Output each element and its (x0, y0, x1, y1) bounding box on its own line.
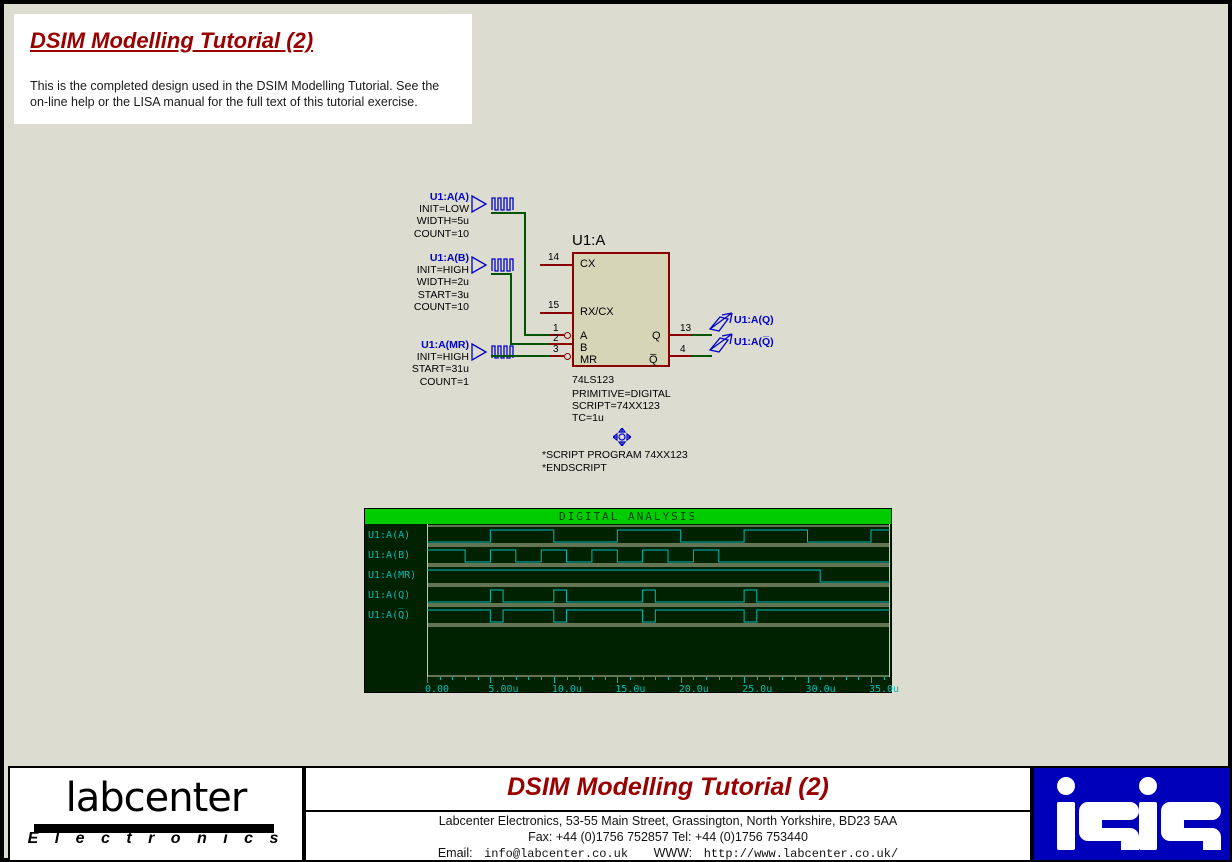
gen-mr-prop-2: COUNT=1 (344, 376, 469, 388)
gen-b-prop-1: WIDTH=2u (344, 276, 469, 288)
gen-a-prop-2: COUNT=10 (344, 228, 469, 240)
generator-props-mr: INIT=HIGH START=31u COUNT=1 (344, 351, 469, 388)
axis-minor-tick (579, 677, 580, 680)
labcenter-wordmark: labcenter (10, 774, 302, 822)
pinstub-14 (540, 264, 572, 266)
gen-mr-prop-0: INIT=HIGH (344, 351, 469, 363)
axis-tick-label: 15.0u (615, 684, 645, 695)
inversion-bubble-pin1 (564, 332, 571, 339)
axis-minor-tick (630, 677, 631, 680)
pin-number-4: 4 (680, 344, 686, 355)
pin-number-15: 15 (548, 300, 559, 311)
axis-minor-tick (884, 677, 885, 680)
inversion-bubble-pin3 (564, 353, 571, 360)
www-label: WWW: (654, 846, 693, 860)
labcenter-sub-wordmark: E l e c t r o n i c s (10, 830, 302, 848)
axis-minor-tick (795, 677, 796, 680)
axis-minor-tick (592, 677, 593, 680)
email-address[interactable]: info@labcenter.co.uk (484, 847, 628, 861)
axis-minor-tick (757, 677, 758, 680)
axis-minor-tick (605, 677, 606, 680)
axis-tick-label: 0.00 (425, 684, 449, 695)
output-terminal-arrow-qbar[interactable] (708, 330, 736, 354)
wire-a-h1 (491, 212, 526, 214)
axis-minor-tick (668, 677, 669, 680)
trace-label-1: U1:A(B) (368, 550, 410, 561)
pinstub-4 (670, 355, 692, 357)
axis-minor-tick (516, 677, 517, 680)
axis-major-tick (554, 677, 555, 683)
axis-minor-tick (643, 677, 644, 680)
axis-tick-label: 10.0u (552, 684, 582, 695)
isis-logo-icon (1044, 774, 1224, 858)
title-block-contact-row: Email: info@labcenter.co.uk WWW: http://… (306, 846, 1030, 861)
pin-label-rxcx: RX/CX (580, 306, 614, 318)
email-label: Email: (438, 846, 473, 860)
axis-major-tick (427, 677, 428, 683)
axis-minor-tick (503, 677, 504, 680)
generator-props-a: INIT=LOW WIDTH=5u COUNT=10 (344, 203, 469, 240)
pinstub-3 (550, 355, 564, 357)
graph-plot-area[interactable] (427, 524, 890, 677)
generator-props-b: INIT=HIGH WIDTH=2u START=3u COUNT=10 (344, 264, 469, 314)
schematic-page: DSIM Modelling Tutorial (2) This is the … (0, 0, 1232, 862)
axis-tick-label: 35.0u (869, 684, 899, 695)
axis-tick-label: 30.0u (806, 684, 836, 695)
gen-a-prop-0: INIT=LOW (344, 203, 469, 215)
gen-a-prop-1: WIDTH=5u (344, 215, 469, 227)
pin-label-b: B (580, 342, 587, 354)
title-block-divider (306, 810, 1030, 812)
axis-major-tick (681, 677, 682, 683)
axis-minor-tick (706, 677, 707, 680)
generator-label-b: U1:A(B) (344, 252, 469, 264)
title-block-main-cell: DSIM Modelling Tutorial (2) Labcenter El… (304, 766, 1032, 862)
wire-mr-h (491, 355, 550, 357)
axis-major-tick (808, 677, 809, 683)
axis-minor-tick (820, 677, 821, 680)
chip-prop-tc: TC=1u (572, 412, 604, 425)
axis-tick-label: 25.0u (742, 684, 772, 695)
pinstub-13 (670, 334, 692, 336)
gen-b-prop-2: START=3u (344, 289, 469, 301)
axis-minor-tick (858, 677, 859, 680)
axis-tick-label: 20.0u (679, 684, 709, 695)
origin-marker-icon (613, 428, 631, 446)
isis-logo-cell (1032, 766, 1232, 862)
wire-a-v (524, 212, 526, 336)
pin-number-2: 2 (553, 333, 559, 344)
pin-label-cx: CX (580, 258, 595, 270)
pin-number-3: 3 (553, 344, 559, 355)
terminal-label-qbar: U1:A(Q̅) (734, 336, 774, 348)
pin-label-mr: MR (580, 354, 597, 366)
chip-reference: U1:A (572, 232, 605, 249)
axis-tick-label: 5.00u (488, 684, 518, 695)
labcenter-logo-cell: labcenter E l e c t r o n i c s (8, 766, 304, 862)
trace-label-2: U1:A(MR) (368, 570, 416, 581)
pin-number-14: 14 (548, 252, 559, 263)
axis-minor-tick (731, 677, 732, 680)
axis-minor-tick (567, 677, 568, 680)
wire-qbar-out (690, 355, 712, 357)
axis-major-tick (744, 677, 745, 683)
pin-number-13: 13 (680, 323, 691, 334)
title-block-title: DSIM Modelling Tutorial (2) (306, 773, 1030, 802)
pinstub-15 (540, 312, 572, 314)
axis-minor-tick (528, 677, 529, 680)
pin-label-q: Q (652, 330, 661, 342)
axis-minor-tick (541, 677, 542, 680)
chip-part-number: 74LS123 (572, 374, 614, 387)
axis-minor-tick (782, 677, 783, 680)
graph-title: DIGITAL ANALYSIS (365, 510, 891, 523)
wire-b-h1 (491, 273, 512, 275)
axis-major-tick (617, 677, 618, 683)
axis-minor-tick (693, 677, 694, 680)
terminal-label-q: U1:A(Q) (734, 314, 774, 326)
wire-a-h2 (524, 334, 550, 336)
script-line-0: *SCRIPT PROGRAM 74XX123 (542, 449, 688, 462)
trace-label-4: U1:A(Q̅) (368, 610, 410, 621)
digital-analysis-graph[interactable]: DIGITAL ANALYSIS U1:A(A)U1:A(B)U1:A(MR)U… (364, 508, 892, 693)
title-block-address: Labcenter Electronics, 53-55 Main Street… (306, 814, 1030, 828)
gen-mr-prop-1: START=31u (344, 363, 469, 375)
generator-label-mr: U1:A(MR) (344, 339, 469, 351)
axis-minor-tick (478, 677, 479, 680)
title-block-phone: Fax: +44 (0)1756 752857 Tel: +44 (0)1756… (306, 830, 1030, 844)
axis-minor-tick (833, 677, 834, 680)
chip-prop-script: SCRIPT=74XX123 (572, 400, 660, 413)
trace-label-3: U1:A(Q) (368, 590, 410, 601)
title-block: labcenter E l e c t r o n i c s DSIM Mod… (8, 766, 1232, 862)
gen-b-prop-0: INIT=HIGH (344, 264, 469, 276)
wire-b-v (510, 273, 512, 345)
axis-minor-tick (769, 677, 770, 680)
axis-minor-tick (655, 677, 656, 680)
axis-minor-tick (719, 677, 720, 680)
axis-minor-tick (846, 677, 847, 680)
axis-minor-tick (452, 677, 453, 680)
pin-label-a: A (580, 330, 587, 342)
axis-minor-tick (465, 677, 466, 680)
trace-label-0: U1:A(A) (368, 530, 410, 541)
axis-major-tick (871, 677, 872, 683)
chip-prop-primitive: PRIMITIVE=DIGITAL (572, 388, 671, 401)
wire-b-h2 (510, 343, 550, 345)
generator-label-a: U1:A(A) (344, 191, 469, 203)
gen-b-prop-3: COUNT=10 (344, 301, 469, 313)
script-line-1: *ENDSCRIPT (542, 462, 607, 475)
axis-minor-tick (440, 677, 441, 680)
website-url[interactable]: http://www.labcenter.co.uk/ (704, 847, 898, 861)
pin-label-qbar: Q̅ (649, 354, 658, 366)
axis-major-tick (490, 677, 491, 683)
